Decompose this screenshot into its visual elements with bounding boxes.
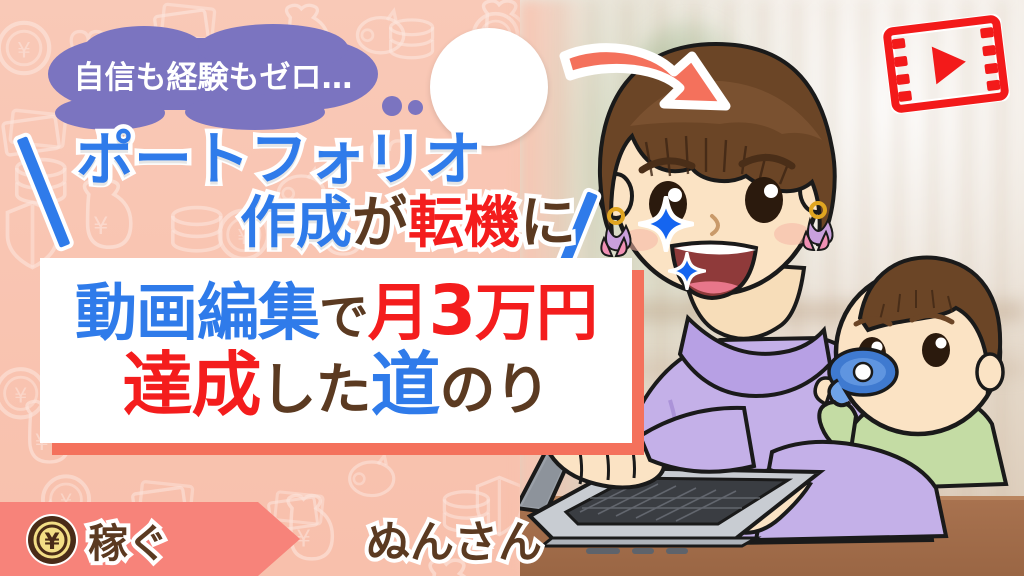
author-name: ぬんさん (366, 506, 542, 570)
headline-part-manen: 万円 (475, 276, 597, 349)
headline-part-de: で (319, 288, 368, 346)
subheadline-part-tenki: 転機 (408, 191, 520, 256)
headline-line-1: 動画編集で月3万円 (40, 278, 632, 346)
thumbnail-canvas: ¥ ¥ (0, 0, 1024, 576)
headline-part-tassei: 達成 (123, 344, 261, 426)
thought-bubble-text: 自信も経験もゼロ… (48, 38, 378, 110)
headline-card: 動画編集で月3万円 達成した道のり (40, 258, 632, 443)
headline-part-shita: した (261, 358, 371, 423)
subheadline-line-2: 作成が転機に (240, 196, 576, 252)
headline-part-three: 3 (429, 272, 475, 351)
curved-arrow-icon (556, 28, 736, 114)
sparkle-icon-small (668, 252, 706, 290)
thought-bubble-dot-1 (382, 96, 402, 116)
yen-coin-icon: ¥ (24, 512, 80, 568)
headline-part-michi: 道 (371, 344, 440, 426)
svg-text:¥: ¥ (44, 530, 60, 555)
headline-line-2: 達成した道のり (40, 350, 632, 420)
subheadline-line-1: ポートフォリオ (76, 130, 482, 188)
subheadline-part-ga: が (352, 191, 408, 256)
subheadline-part-ni: に (520, 191, 576, 256)
headline-part-douga-henshu: 動画編集 (75, 276, 319, 349)
thought-bubble-dot-2 (408, 100, 423, 115)
headline-part-tsuki: 月 (368, 276, 429, 349)
video-play-icon (881, 13, 1011, 115)
headline-part-nori: のり (440, 358, 550, 423)
subheadline-part-sakusei: 作成 (240, 191, 352, 256)
sparkle-icon (638, 196, 694, 252)
category-label: 稼ぐ (88, 512, 168, 568)
